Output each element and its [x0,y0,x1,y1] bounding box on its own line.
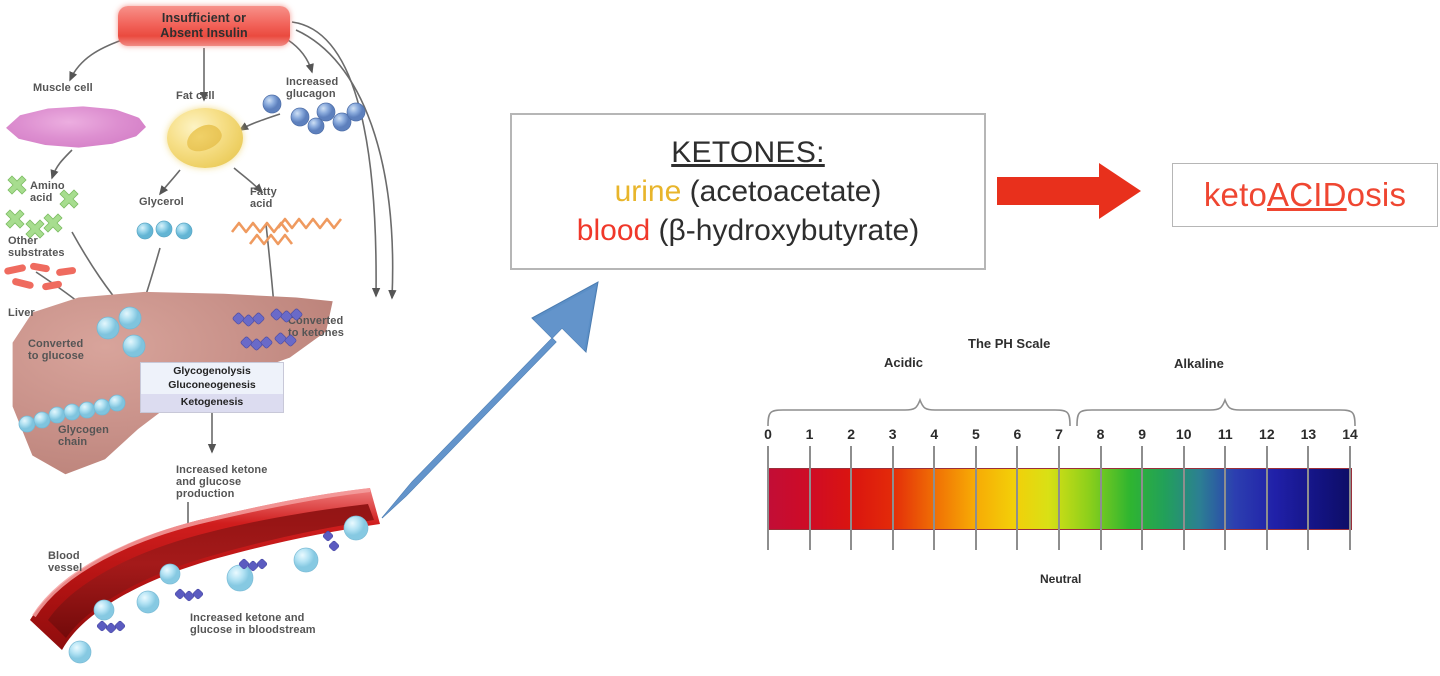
ph-range-braces [755,382,1375,432]
ph-tick-7 [1058,446,1060,550]
ph-tick-label-14: 14 [1342,426,1358,442]
blood-vessel-label: Blood vessel [48,550,82,574]
amino-acid-molecules-icon [4,172,104,242]
insulin-box-text: Insufficient orAbsent Insulin [160,11,248,41]
ph-tick-label-5: 5 [972,426,980,442]
glycerol-label: Glycerol [139,196,184,208]
ph-acidic-label: Acidic [884,355,923,370]
ketoacidosis-box: ketoACIDosis [1172,163,1438,227]
ph-tick-1 [809,446,811,550]
ph-tick-8 [1100,446,1102,550]
blood-label: blood [577,214,650,247]
blood-compound: (β-hydroxybutyrate) [659,214,920,247]
ketones-urine-line: urine (acetoacetate) [615,172,882,211]
acid-emphasis: ACID [1267,176,1347,213]
converted-to-glucose-label: Converted to glucose [28,338,84,362]
ph-tick-2 [850,446,852,550]
ketone-molecules-icon [230,310,340,370]
fatty-acid-label: Fatty acid [250,186,277,210]
ph-tick-label-3: 3 [889,426,897,442]
ph-tick-label-8: 8 [1097,426,1105,442]
other-substrates-label: Other substrates [8,235,65,259]
ketoacidosis-text: ketoACIDosis [1204,176,1406,214]
ph-tick-label-11: 11 [1218,426,1233,442]
glycogen-chain-label: Glycogen chain [58,424,109,448]
ph-tick-label-12: 12 [1259,426,1275,442]
ph-alkaline-label: Alkaline [1174,356,1224,371]
ketogenesis-row: Ketogenesis [141,394,283,412]
ketones-title: KETONES: [671,133,825,172]
fatty-acid-chain-icon [230,214,360,260]
urine-label: urine [615,175,682,208]
fat-cell-illustration [167,108,243,168]
metabolic-processes-box: Glycogenolysis Gluconeogenesis Ketogenes… [140,362,284,413]
ph-tick-6 [1016,446,1018,550]
ph-tick-12 [1266,446,1268,550]
other-substrates-icon [4,262,94,298]
ph-tick-3 [892,446,894,550]
glucagon-molecules-icon [258,90,378,160]
bloodstream-label: Increased ketone and glucose in bloodstr… [190,612,316,636]
urine-compound: (acetoacetate) [690,175,882,208]
ph-tick-10 [1183,446,1185,550]
fat-cell-label: Fat cell [176,90,215,102]
glycogenolysis-row: Glycogenolysis [141,363,283,379]
ketones-box: KETONES: urine (acetoacetate) blood (β-h… [510,113,986,270]
ph-tick-11 [1224,446,1226,550]
ph-tick-label-10: 10 [1176,426,1192,442]
insufficient-insulin-box: Insufficient orAbsent Insulin [118,6,290,46]
ph-tick-label-1: 1 [806,426,814,442]
ph-tick-label-9: 9 [1138,426,1146,442]
ph-tick-13 [1307,446,1309,550]
liver-label: Liver [8,307,35,319]
ph-tick-5 [975,446,977,550]
ph-gradient-bar [768,468,1352,530]
muscle-cell-label: Muscle cell [33,82,93,94]
diagram-canvas: Insufficient orAbsent Insulin Muscle cel… [0,0,1440,676]
ph-tick-4 [933,446,935,550]
gluconeogenesis-row: Gluconeogenesis [141,379,283,395]
ph-tick-9 [1141,446,1143,550]
ketones-blood-line: blood (β-hydroxybutyrate) [577,211,919,250]
glycerol-molecules-icon [134,218,204,248]
ph-tick-14 [1349,446,1351,550]
ph-neutral-label: Neutral [1040,572,1081,586]
blue-transition-arrow [360,260,620,540]
ph-tick-label-6: 6 [1014,426,1022,442]
ph-tick-label-13: 13 [1301,426,1317,442]
ph-scale-title: The PH Scale [968,336,1050,351]
red-outcome-arrow [995,163,1165,233]
ph-tick-0 [767,446,769,550]
ph-tick-labels: 01234567891011121314 [760,426,1360,444]
ph-tick-label-7: 7 [1055,426,1063,442]
ph-tick-label-4: 4 [930,426,938,442]
glucose-molecules-icon [92,304,162,364]
muscle-cell-illustration [6,106,146,148]
ph-tick-label-2: 2 [847,426,855,442]
ph-tick-label-0: 0 [764,426,772,442]
